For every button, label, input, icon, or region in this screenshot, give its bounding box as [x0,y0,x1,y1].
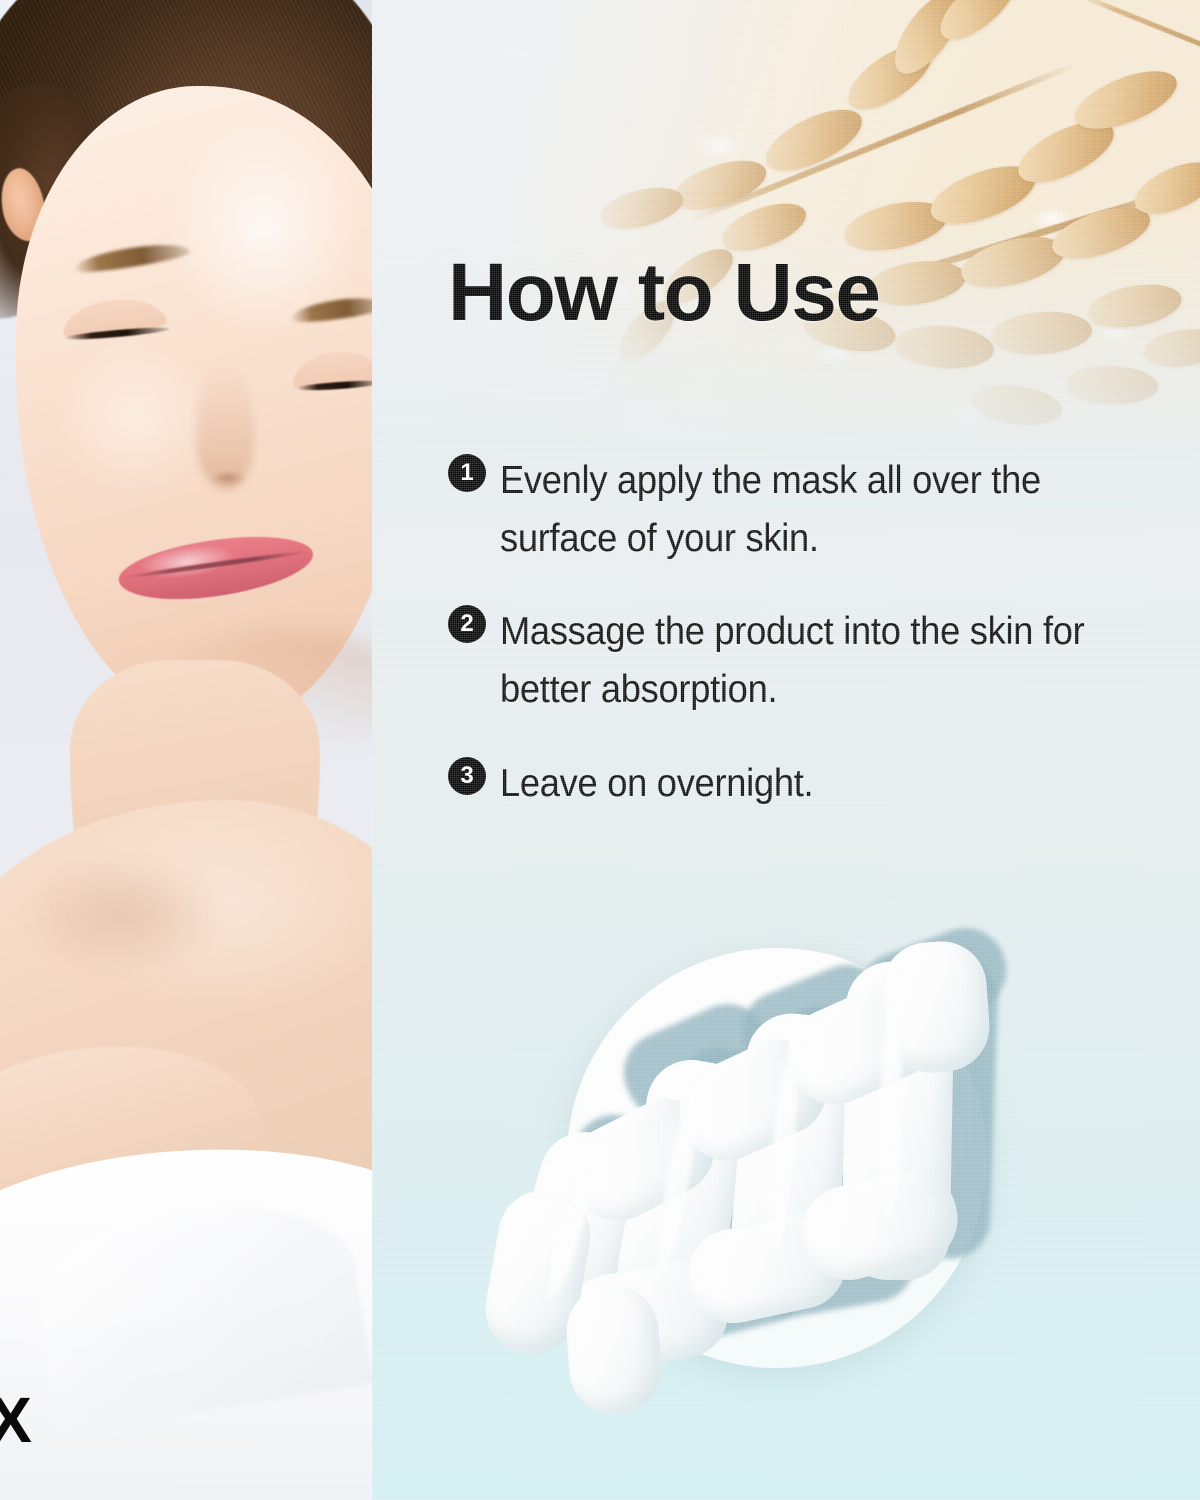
how-to-use-steps: 1 Evenly apply the mask all over the sur… [448,452,1148,813]
step-number-badge: 3 [448,757,486,795]
step-number-badge: 2 [448,605,486,643]
step-item: 2 Massage the product into the skin for … [448,603,1148,718]
step-text: Leave on overnight. [500,755,813,813]
product-swatch [372,900,1200,1500]
cream-tail [564,1283,665,1417]
step-text: Evenly apply the mask all over the surfa… [500,452,1103,567]
infographic-canvas: RX [0,0,1200,1500]
brand-logo: RX [0,1388,33,1452]
instructions-panel: How to Use 1 Evenly apply the mask all o… [372,0,1200,1500]
step-text: Massage the product into the skin for be… [500,603,1103,718]
model-nostril [210,470,256,486]
step-item: 3 Leave on overnight. [448,755,1148,813]
page-title: How to Use [448,252,879,334]
model-collarbone-shadow [0,855,220,1005]
step-item: 1 Evenly apply the mask all over the sur… [448,452,1148,567]
model-photo-panel: RX [0,0,372,1500]
step-number-badge: 1 [448,454,486,492]
